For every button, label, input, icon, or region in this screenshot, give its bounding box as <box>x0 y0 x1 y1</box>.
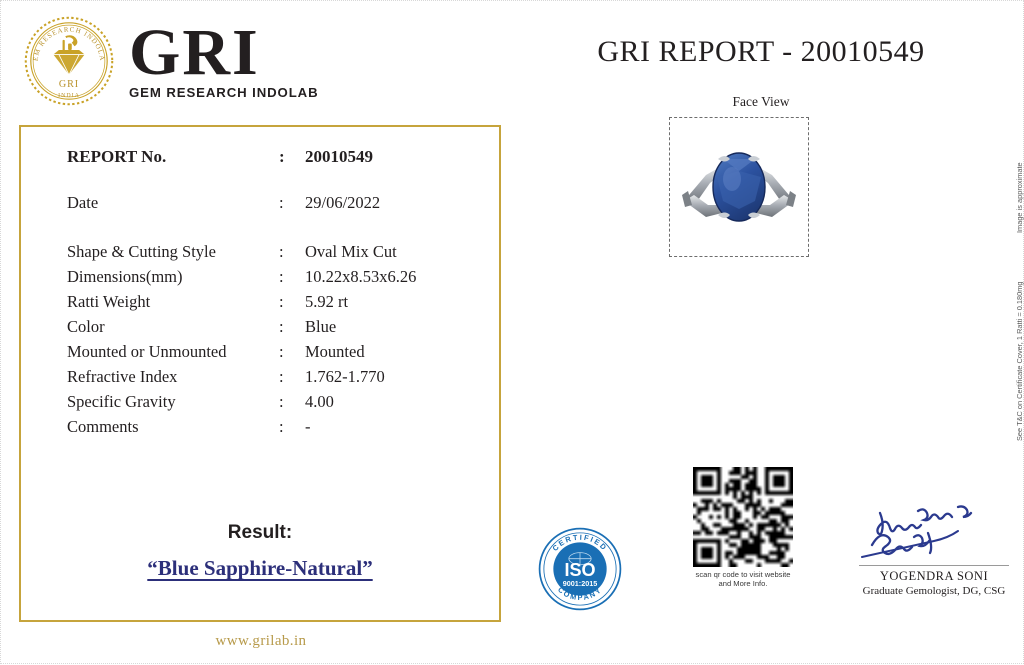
date-label: Date <box>67 193 279 213</box>
signatory-role: Graduate Gemologist, DG, CSG <box>843 585 1024 597</box>
qr-caption-line2: and More Info. <box>685 579 801 588</box>
brand-header: GEM RESEARCH INDOLAB <box>23 15 319 107</box>
iso-certified-seal-icon: CERTIFIED COMPANY ISO 9001:2015 <box>537 526 623 612</box>
gri-seal-logo-icon: GEM RESEARCH INDOLAB <box>23 15 115 107</box>
svg-text:ISO: ISO <box>564 560 595 580</box>
row-refractive-index: Refractive Index : 1.762-1.770 <box>67 367 475 387</box>
report-no-label: REPORT No. <box>67 147 279 167</box>
separator: : <box>279 417 305 437</box>
row-specific-gravity: Specific Gravity : 4.00 <box>67 392 475 412</box>
ring-photo-icon <box>676 131 802 243</box>
separator: : <box>279 147 305 167</box>
spacer <box>67 167 475 193</box>
right-panel: GRI REPORT - 20010549 Face View <box>521 1 1024 665</box>
separator: : <box>279 292 305 312</box>
ratti-weight-value: 5.92 rt <box>305 292 475 312</box>
spacer <box>67 213 475 237</box>
face-view-label: Face View <box>521 94 1001 110</box>
separator: : <box>279 242 305 262</box>
shape-value: Oval Mix Cut <box>305 242 475 262</box>
color-label: Color <box>67 317 279 337</box>
report-no-value: 20010549 <box>305 147 475 167</box>
brand-wordmark: GRI GEM RESEARCH INDOLAB <box>129 23 319 100</box>
terms-side-note: See T&C on Certificate Cover, 1 Ratti = … <box>1015 282 1024 441</box>
row-dimensions: Dimensions(mm) : 10.22x8.53x6.26 <box>67 267 475 287</box>
row-shape: Shape & Cutting Style : Oval Mix Cut <box>67 242 475 262</box>
refractive-index-label: Refractive Index <box>67 367 279 387</box>
specific-gravity-value: 4.00 <box>305 392 475 412</box>
gem-photo-box <box>669 117 809 257</box>
row-ratti-weight: Ratti Weight : 5.92 rt <box>67 292 475 312</box>
report-title: GRI REPORT - 20010549 <box>521 35 1001 69</box>
separator: : <box>279 367 305 387</box>
svg-text:9001:2015: 9001:2015 <box>563 579 598 588</box>
brand-logo-text: GRI <box>129 23 319 84</box>
comments-label: Comments <box>67 417 279 437</box>
row-comments: Comments : - <box>67 417 475 437</box>
color-value: Blue <box>305 317 475 337</box>
separator: : <box>279 342 305 362</box>
row-date: Date : 29/06/2022 <box>67 193 475 213</box>
certificate-page: GEM RESEARCH INDOLAB <box>0 0 1024 664</box>
mounted-label: Mounted or Unmounted <box>67 342 279 362</box>
specific-gravity-label: Specific Gravity <box>67 392 279 412</box>
separator: : <box>279 193 305 213</box>
result-value: “Blue Sapphire-Natural” <box>21 556 499 581</box>
mounted-value: Mounted <box>305 342 475 362</box>
details-list: REPORT No. : 20010549 Date : 29/06/2022 … <box>67 147 475 437</box>
handwritten-signature-icon <box>843 501 1024 563</box>
comments-value: - <box>305 417 475 437</box>
row-report-no: REPORT No. : 20010549 <box>67 147 475 167</box>
details-box: REPORT No. : 20010549 Date : 29/06/2022 … <box>19 125 501 622</box>
svg-text:INDIA: INDIA <box>58 93 80 99</box>
separator: : <box>279 392 305 412</box>
signatory-name: YOGENDRA SONI <box>843 569 1024 584</box>
separator: : <box>279 267 305 287</box>
brand-tagline: GEM RESEARCH INDOLAB <box>129 86 319 99</box>
row-color: Color : Blue <box>67 317 475 337</box>
qr-section: scan qr code to visit website and More I… <box>685 467 801 589</box>
dimensions-value: 10.22x8.53x6.26 <box>305 267 475 287</box>
qr-caption: scan qr code to visit website and More I… <box>685 570 801 589</box>
result-label: Result: <box>21 522 499 544</box>
svg-text:GRI: GRI <box>59 79 79 90</box>
dimensions-label: Dimensions(mm) <box>67 267 279 287</box>
left-panel: GEM RESEARCH INDOLAB <box>1 1 521 665</box>
shape-label: Shape & Cutting Style <box>67 242 279 262</box>
qr-code-icon[interactable] <box>693 467 793 567</box>
result-section: Result: “Blue Sapphire-Natural” <box>21 522 499 581</box>
signature-line <box>859 565 1009 566</box>
qr-caption-line1: scan qr code to visit website <box>685 570 801 579</box>
website-footer[interactable]: www.grilab.in <box>1 633 521 650</box>
date-value: 29/06/2022 <box>305 193 475 213</box>
signature-block: YOGENDRA SONI Graduate Gemologist, DG, C… <box>843 501 1024 597</box>
separator: : <box>279 317 305 337</box>
ratti-weight-label: Ratti Weight <box>67 292 279 312</box>
image-approximate-side-note: Image is approximate <box>1015 162 1024 233</box>
refractive-index-value: 1.762-1.770 <box>305 367 475 387</box>
row-mounted: Mounted or Unmounted : Mounted <box>67 342 475 362</box>
